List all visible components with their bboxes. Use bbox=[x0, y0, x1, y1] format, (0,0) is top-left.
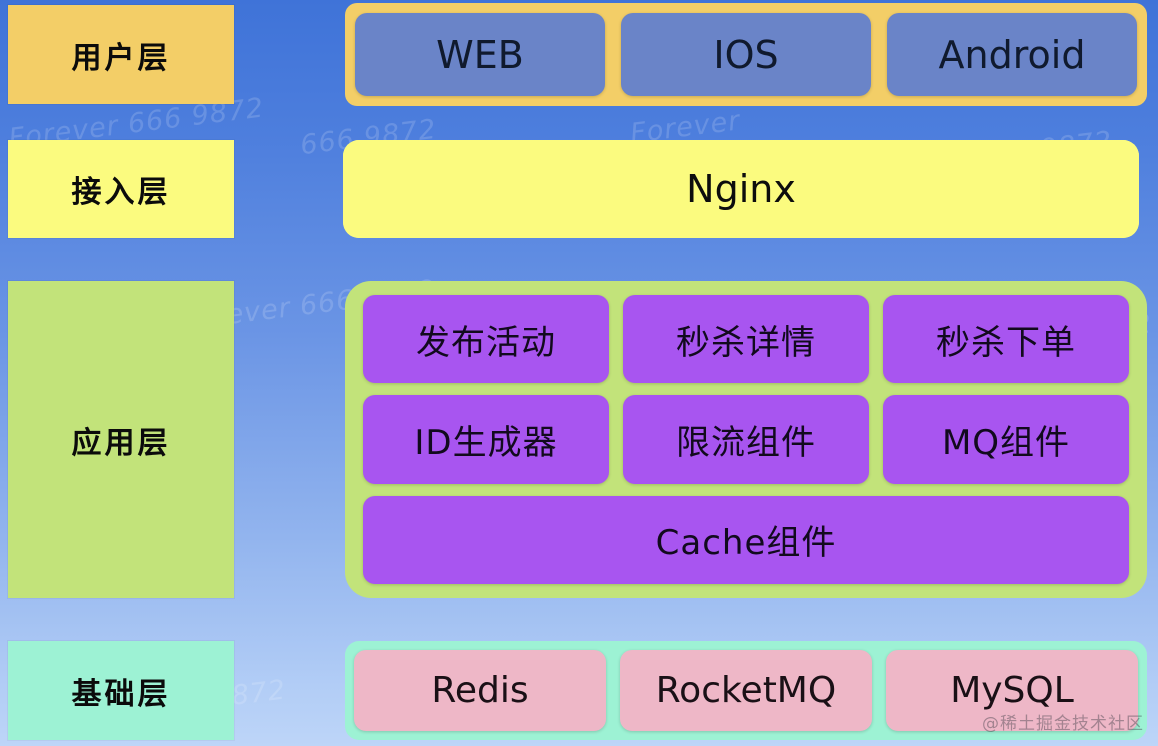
layer-group-access: Nginx bbox=[343, 140, 1139, 238]
layer-label-user: 用户层 bbox=[8, 5, 234, 104]
node-cache-component[interactable]: Cache组件 bbox=[363, 496, 1129, 584]
layer-label-infrastructure: 基础层 bbox=[8, 641, 234, 740]
application-row-3: Cache组件 bbox=[363, 496, 1129, 584]
architecture-diagram: Forever 666 9872 666 9872 Forever 9872 F… bbox=[0, 0, 1158, 746]
layer-label-infrastructure-text: 基础层 bbox=[72, 669, 171, 713]
node-redis[interactable]: Redis bbox=[354, 650, 606, 731]
layer-group-application: 发布活动 秒杀详情 秒杀下单 ID生成器 限流组件 MQ组件 Cache组件 bbox=[345, 281, 1147, 598]
layer-label-application-text: 应用层 bbox=[72, 418, 171, 462]
node-seckill-order[interactable]: 秒杀下单 bbox=[883, 295, 1129, 383]
layer-label-application: 应用层 bbox=[8, 281, 234, 598]
application-row-1: 发布活动 秒杀详情 秒杀下单 bbox=[363, 295, 1129, 383]
node-web[interactable]: WEB bbox=[355, 13, 605, 96]
node-ios[interactable]: IOS bbox=[621, 13, 871, 96]
application-row-2: ID生成器 限流组件 MQ组件 bbox=[363, 395, 1129, 483]
layer-group-user: WEB IOS Android bbox=[345, 3, 1147, 106]
layer-label-user-text: 用户层 bbox=[72, 33, 171, 77]
node-mq-component[interactable]: MQ组件 bbox=[883, 395, 1129, 483]
node-seckill-detail[interactable]: 秒杀详情 bbox=[623, 295, 869, 383]
layer-label-access: 接入层 bbox=[8, 140, 234, 238]
node-id-generator[interactable]: ID生成器 bbox=[363, 395, 609, 483]
layer-label-access-text: 接入层 bbox=[72, 167, 171, 211]
node-rate-limiter[interactable]: 限流组件 bbox=[623, 395, 869, 483]
node-android[interactable]: Android bbox=[887, 13, 1137, 96]
node-rocketmq[interactable]: RocketMQ bbox=[620, 650, 872, 731]
node-publish-activity[interactable]: 发布活动 bbox=[363, 295, 609, 383]
author-watermark: @稀土掘金技术社区 bbox=[982, 709, 1144, 734]
node-nginx[interactable]: Nginx bbox=[343, 140, 1139, 238]
